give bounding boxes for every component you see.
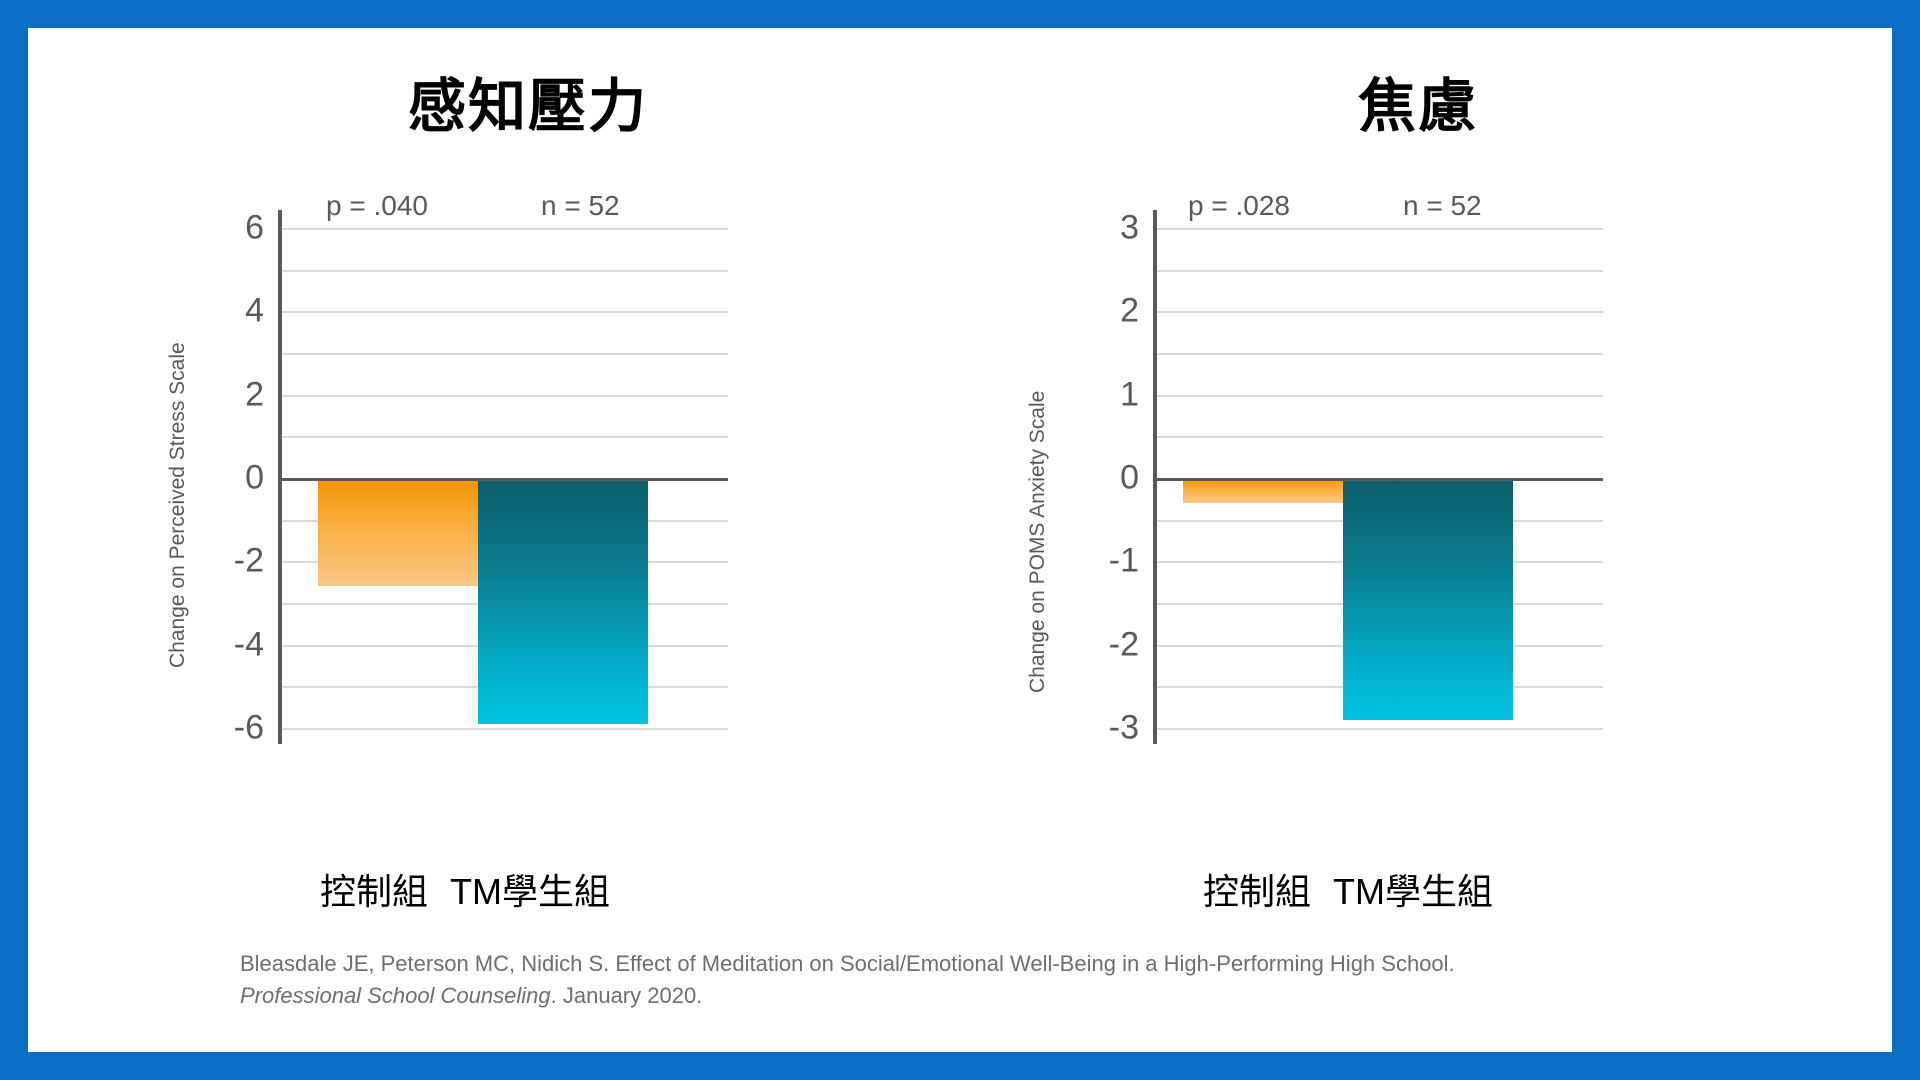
y-tick-label: -3 (1109, 709, 1139, 748)
stats-row-anxiety: p = .028 n = 52 (1188, 190, 1482, 222)
chart-title-perceived-stress: 感知壓力 (88, 78, 908, 136)
gridline (1153, 311, 1603, 313)
y-tick-label: -2 (1109, 626, 1139, 665)
y-tick-label: -4 (234, 626, 264, 665)
gridline (278, 353, 728, 355)
gridline (278, 311, 728, 313)
zero-baseline (278, 478, 728, 481)
stats-row-perceived-stress: p = .040 n = 52 (326, 190, 620, 222)
plot-area-perceived-stress: 6 4 2 0 -2 -4 -6 (278, 228, 728, 728)
category-labels-perceived-stress: 控制組TM學生組 (320, 863, 610, 915)
gridline (278, 228, 728, 230)
bar-tm-perceived-stress (478, 478, 648, 724)
category-label-control: 控制組 (320, 863, 428, 915)
slide-canvas: 感知壓力 p = .040 n = 52 Change on Perceived… (28, 28, 1892, 1052)
y-tick-label: -1 (1109, 542, 1139, 581)
citation-part1: Bleasdale JE, Peterson MC, Nidich S. Eff… (240, 951, 1455, 976)
gridline (1153, 436, 1603, 438)
chart-panel-anxiety: 焦慮 p = .028 n = 52 Change on POMS Anxiet… (978, 28, 1798, 928)
y-tick-label: 2 (245, 376, 264, 415)
gridline (1153, 395, 1603, 397)
n-value-label: n = 52 (1403, 190, 1482, 222)
gridline (1153, 228, 1603, 230)
gridline (278, 270, 728, 272)
y-axis-line (1153, 210, 1157, 744)
chart-title-anxiety: 焦慮 (978, 78, 1798, 136)
citation-part2: . January 2020. (551, 983, 703, 1008)
y-tick-label: 3 (1120, 209, 1139, 248)
y-tick-label: 2 (1120, 292, 1139, 331)
category-label-control: 控制組 (1203, 863, 1311, 915)
gridline (1153, 270, 1603, 272)
gridline (278, 728, 728, 730)
y-axis-title-perceived-stress: Change on Perceived Stress Scale (166, 342, 190, 668)
y-tick-label: 6 (245, 209, 264, 248)
category-labels-anxiety: 控制組TM學生組 (1203, 863, 1493, 915)
p-value-label: p = .028 (1188, 190, 1403, 222)
category-label-tm: TM學生組 (450, 863, 610, 915)
p-value-label: p = .040 (326, 190, 541, 222)
category-label-tm: TM學生組 (1333, 863, 1493, 915)
gridline (1153, 728, 1603, 730)
bar-control-anxiety (1183, 478, 1343, 503)
bar-control-perceived-stress (318, 478, 478, 586)
gridline (1153, 353, 1603, 355)
y-tick-label: -2 (234, 542, 264, 581)
bar-tm-anxiety (1343, 478, 1513, 720)
chart-panel-perceived-stress: 感知壓力 p = .040 n = 52 Change on Perceived… (88, 28, 908, 928)
y-axis-line (278, 210, 282, 744)
citation-text: Bleasdale JE, Peterson MC, Nidich S. Eff… (240, 948, 1490, 1012)
gridline (278, 436, 728, 438)
citation-journal-name: Professional School Counseling (240, 983, 551, 1008)
y-tick-label: -6 (234, 709, 264, 748)
y-tick-label: 1 (1120, 376, 1139, 415)
plot-area-anxiety: 3 2 1 0 -1 -2 -3 (1153, 228, 1603, 728)
y-axis-title-anxiety: Change on POMS Anxiety Scale (1026, 391, 1050, 693)
y-tick-label: 0 (1120, 459, 1139, 498)
y-tick-label: 0 (245, 459, 264, 498)
y-tick-label: 4 (245, 292, 264, 331)
gridline (278, 395, 728, 397)
zero-baseline (1153, 478, 1603, 481)
n-value-label: n = 52 (541, 190, 620, 222)
